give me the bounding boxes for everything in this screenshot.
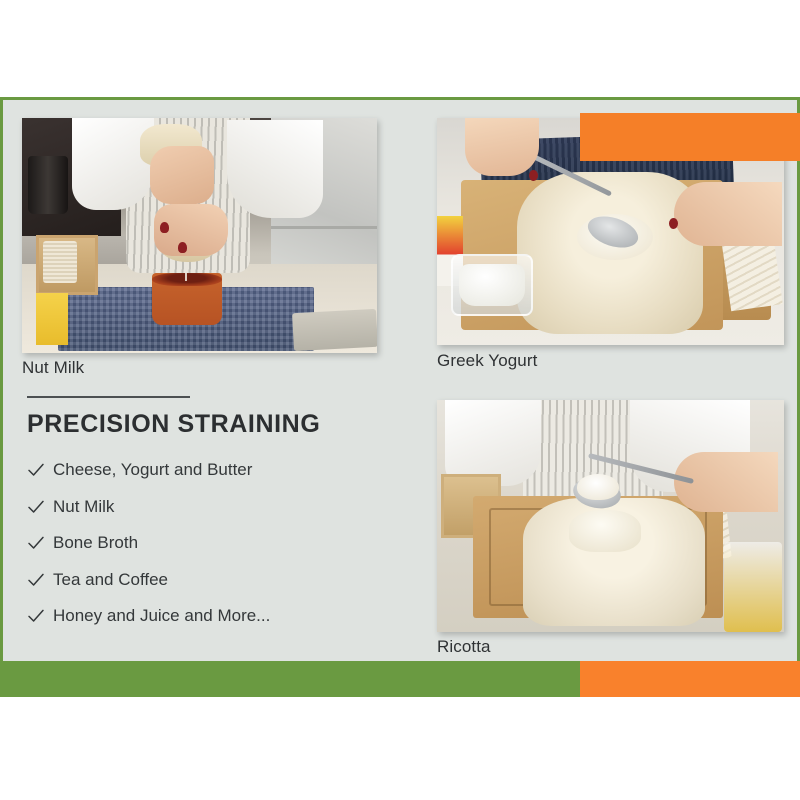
right-hand bbox=[674, 182, 782, 246]
left-sleeve bbox=[72, 118, 154, 210]
orange-bottom-block bbox=[580, 661, 800, 697]
terracotta-bowl bbox=[152, 273, 222, 325]
nut-milk-scene bbox=[22, 118, 377, 353]
green-framed-panel: Nut Milk bbox=[0, 97, 800, 697]
upper-hand bbox=[150, 146, 214, 204]
tray-object bbox=[292, 309, 377, 351]
fridge-seam bbox=[271, 226, 378, 229]
red-nail bbox=[160, 222, 169, 233]
ricotta-curds bbox=[569, 510, 641, 552]
list-item-label: Tea and Coffee bbox=[53, 570, 168, 590]
red-nail bbox=[529, 170, 538, 181]
honey-jar bbox=[724, 542, 782, 632]
yogurt-in-dish bbox=[459, 264, 525, 306]
infographic-canvas: Nut Milk bbox=[0, 0, 800, 800]
red-nail bbox=[669, 218, 678, 229]
greek-yogurt-caption: Greek Yogurt bbox=[437, 351, 537, 371]
check-icon bbox=[27, 607, 53, 625]
page-title: PRECISION STRAINING bbox=[27, 410, 320, 439]
feature-list: Cheese, Yogurt and Butter Nut Milk Bone … bbox=[27, 452, 407, 635]
nut-milk-caption: Nut Milk bbox=[22, 358, 84, 378]
nut-milk-photo[interactable] bbox=[22, 118, 377, 353]
ricotta-caption: Ricotta bbox=[437, 637, 491, 657]
list-item-label: Nut Milk bbox=[53, 497, 114, 517]
right-sleeve bbox=[227, 120, 323, 218]
check-icon bbox=[27, 498, 53, 516]
list-item: Cheese, Yogurt and Butter bbox=[27, 452, 407, 489]
list-item: Nut Milk bbox=[27, 489, 407, 526]
ricotta-scene bbox=[437, 400, 784, 632]
headline-divider bbox=[27, 396, 190, 398]
twine-spool bbox=[43, 241, 77, 283]
list-item-label: Cheese, Yogurt and Butter bbox=[53, 460, 252, 480]
yellow-package bbox=[36, 293, 68, 345]
check-icon bbox=[27, 461, 53, 479]
orange-redaction-banner bbox=[580, 113, 800, 161]
list-item-label: Bone Broth bbox=[53, 533, 138, 553]
ricotta-photo[interactable] bbox=[437, 400, 784, 632]
check-icon bbox=[27, 534, 53, 552]
left-hand bbox=[465, 118, 539, 176]
list-item: Bone Broth bbox=[27, 525, 407, 562]
list-item: Tea and Coffee bbox=[27, 562, 407, 599]
kettle-object bbox=[28, 156, 68, 214]
ricotta-scoop bbox=[577, 474, 619, 500]
check-icon bbox=[27, 571, 53, 589]
red-nail bbox=[178, 242, 187, 253]
list-item-label: Honey and Juice and More... bbox=[53, 606, 270, 626]
list-item: Honey and Juice and More... bbox=[27, 598, 407, 635]
panel-content: Nut Milk bbox=[3, 100, 797, 661]
